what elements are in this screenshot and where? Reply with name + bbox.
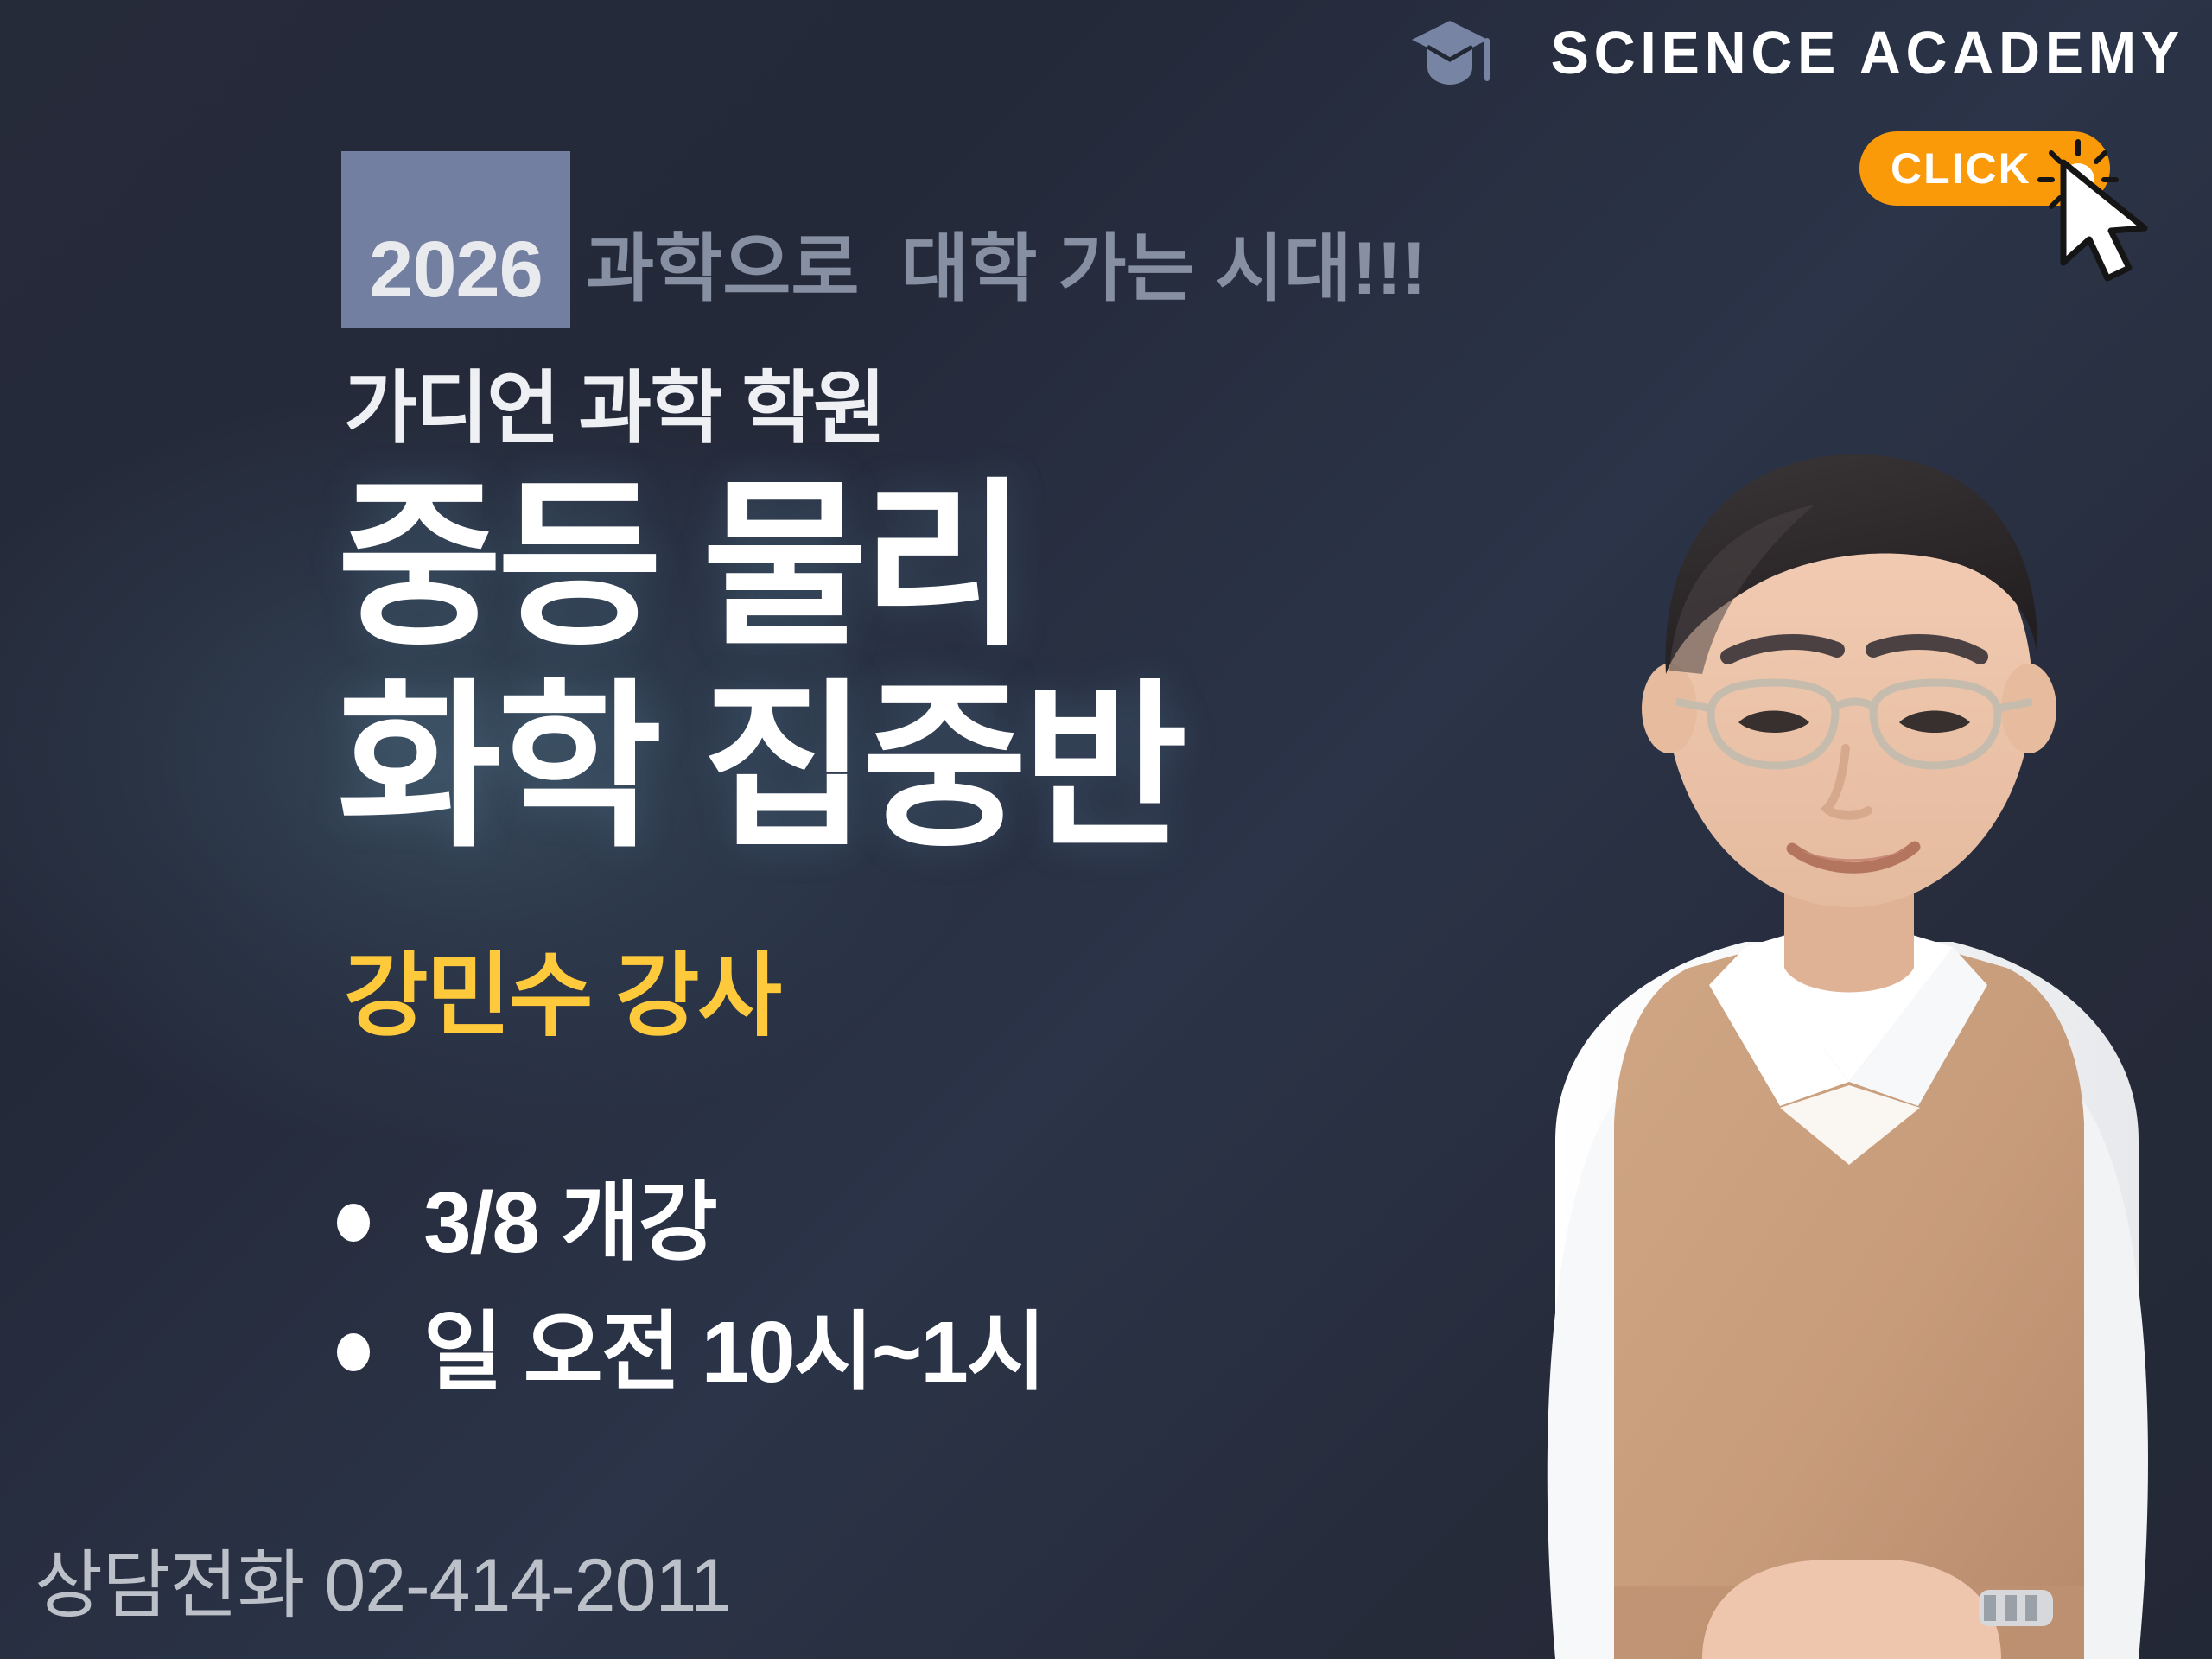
brand-logo: SCIENCE ACADEMY	[1412, 19, 2184, 86]
banner-content: 2026 과학으로 대학 가는 시대!!! 가디언 과학 학원 중등 물리 화학…	[0, 0, 1521, 1659]
year-badge: 2026	[341, 151, 570, 328]
detail-list: 3/8 개강 일 오전 10시~1시	[337, 1158, 1045, 1417]
bullet-dot-icon	[337, 1204, 370, 1242]
click-cta[interactable]: CLICK	[1859, 131, 2145, 296]
eyebrow-row: 2026 과학으로 대학 가는 시대!!!	[341, 151, 1427, 328]
headline: 중등 물리 화학 집중반	[337, 467, 1183, 869]
promo-banner: SCIENCE ACADEMY CLICK	[0, 0, 2212, 1659]
academy-name: 가디언 과학 학원	[344, 367, 885, 451]
detail-text: 일 오전 10시~1시	[423, 1309, 1045, 1395]
tagline: 과학으로 대학 가는 시대!!!	[586, 232, 1427, 328]
click-button-label: CLICK	[1891, 147, 2031, 190]
contact-phone: 상담전화 02-414-2011	[35, 1548, 731, 1623]
list-item: 일 오전 10시~1시	[337, 1287, 1045, 1417]
headline-line-1: 중등 물리	[337, 467, 1183, 668]
year-badge-label: 2026	[369, 230, 543, 309]
instructor-name: 강민수 강사	[344, 949, 780, 1045]
headline-line-2: 화학 집중반	[337, 668, 1183, 869]
bullet-dot-icon	[337, 1333, 370, 1371]
detail-text: 3/8 개강	[423, 1179, 716, 1266]
list-item: 3/8 개강	[337, 1158, 1045, 1287]
brand-name: SCIENCE ACADEMY	[1551, 22, 2184, 83]
